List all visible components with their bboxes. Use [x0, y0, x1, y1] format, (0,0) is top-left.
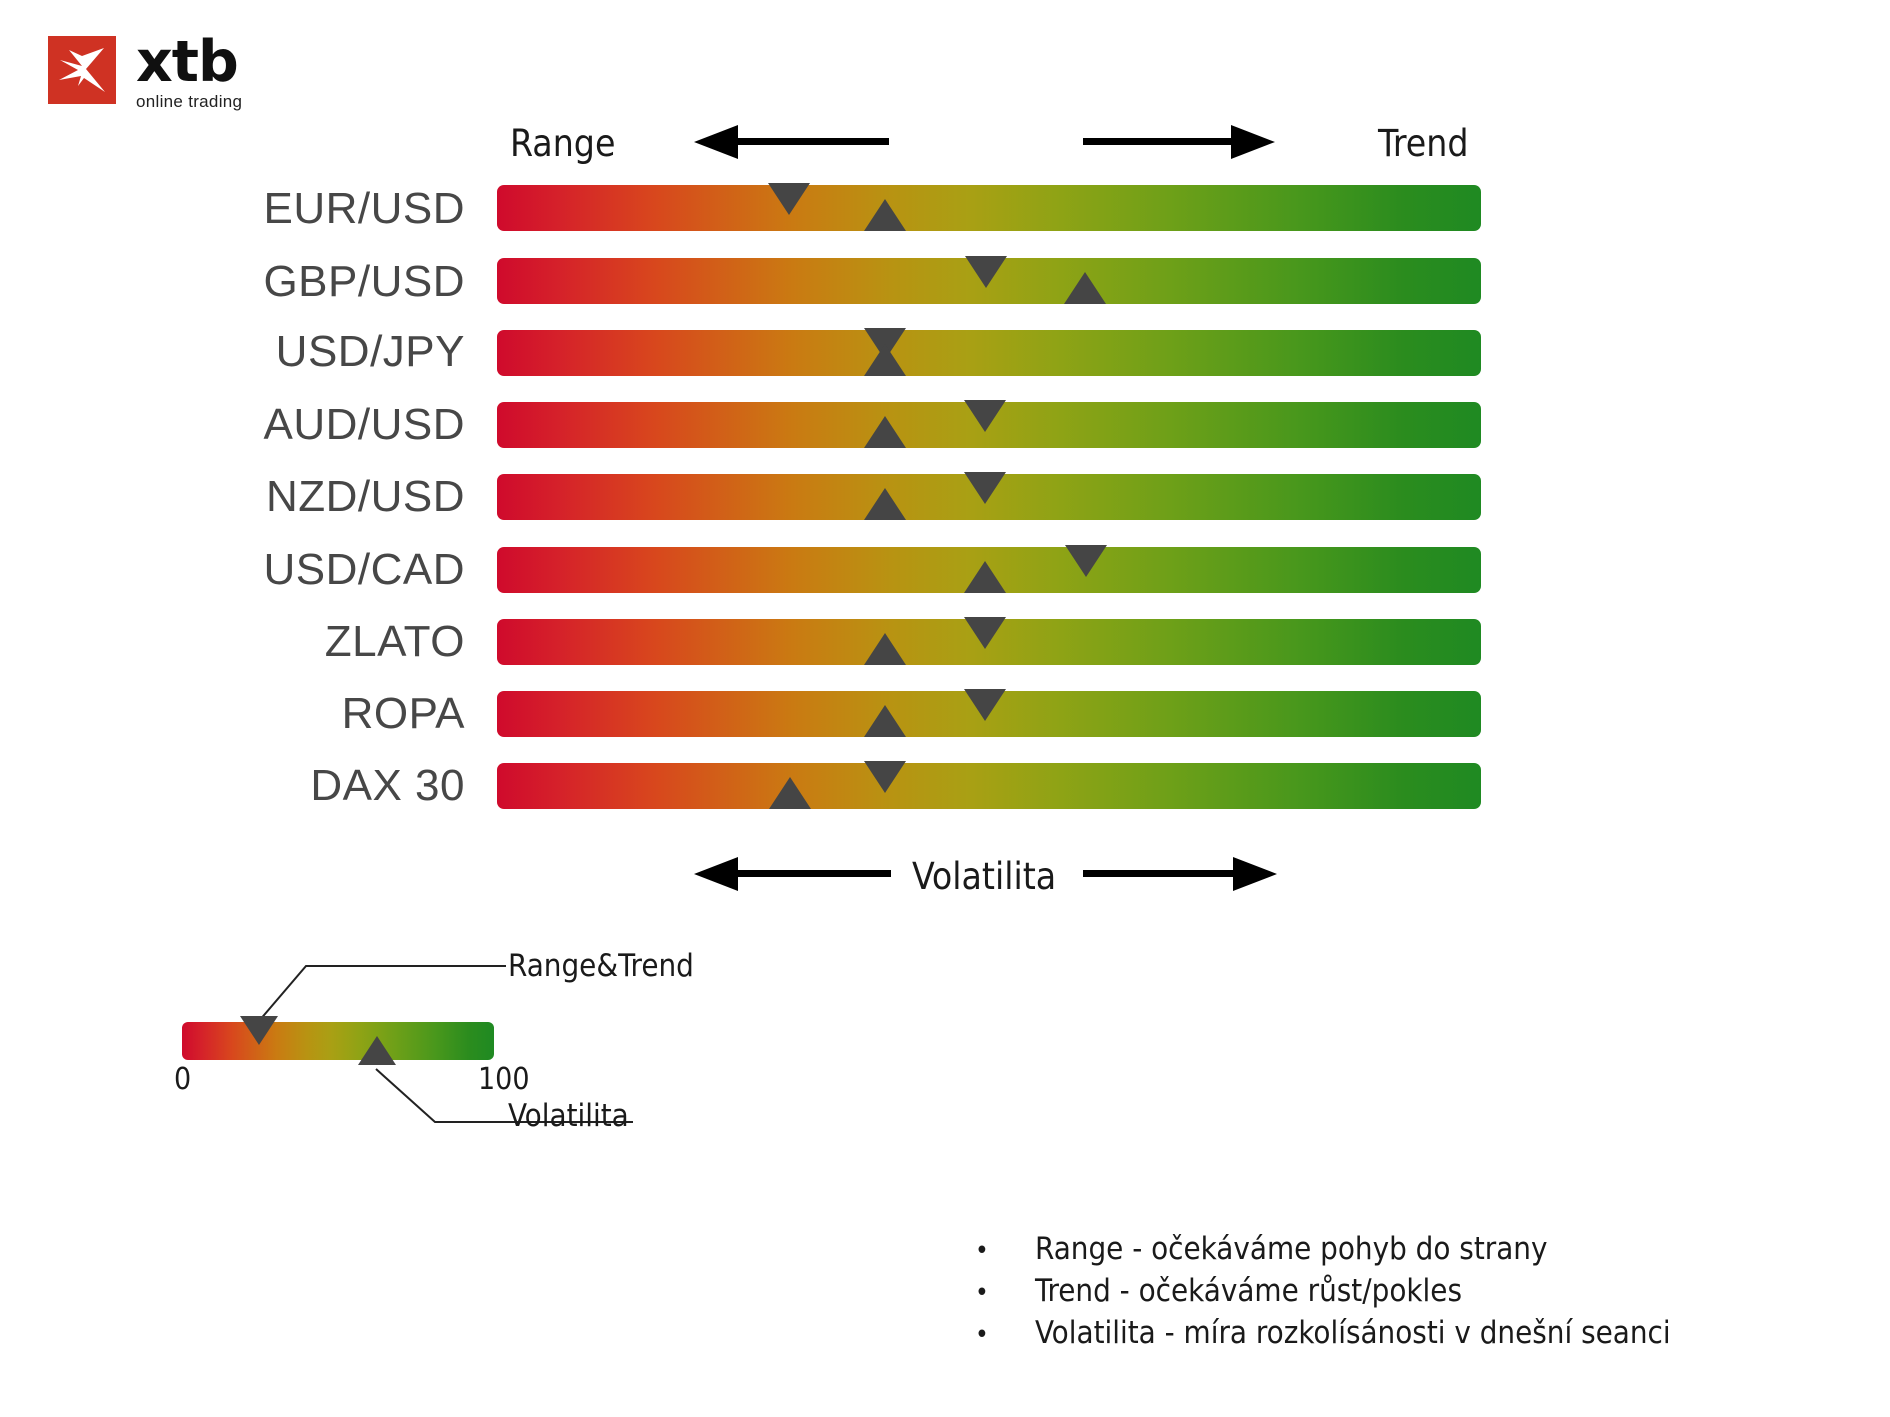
legend-gradient-bar [182, 1022, 494, 1060]
arrow-right-shaft [1083, 138, 1236, 145]
sentiment-bar-eurusd [497, 185, 1481, 231]
vol-arrow-right-icon [1233, 857, 1277, 891]
marker-range-trend-audusd [964, 400, 1006, 432]
marker-volatilita-usdcad [964, 561, 1006, 593]
marker-range-trend-zlato [964, 617, 1006, 649]
row-label-audusd: AUD/USD [263, 400, 465, 450]
axis-label-trend: Trend [1378, 122, 1468, 165]
marker-range-trend-eurusd [768, 183, 810, 215]
legend-marker-range-trend [240, 1016, 278, 1045]
arrow-right-icon [1231, 125, 1275, 159]
marker-range-trend-usdcad [1065, 545, 1107, 577]
legend-marker-volatilita [358, 1036, 396, 1065]
marker-volatilita-audusd [864, 416, 906, 448]
legend-scale-min: 0 [174, 1062, 191, 1097]
marker-volatilita-zlato [864, 633, 906, 665]
vol-arrow-left-icon [694, 857, 738, 891]
bullet-icon: • [975, 1280, 1035, 1306]
row-label-eurusd: EUR/USD [263, 184, 465, 234]
vol-arrow-left-shaft [736, 870, 891, 877]
row-label-nzdusd: NZD/USD [266, 472, 465, 522]
bullet-icon: • [975, 1322, 1035, 1348]
note-text: Trend - očekáváme růst/pokles [1035, 1273, 1462, 1309]
note-text: Volatilita - míra rozkolísánosti v dnešn… [1035, 1315, 1671, 1351]
marker-volatilita-usdjpy [864, 344, 906, 376]
arrow-left-icon [694, 125, 738, 159]
row-label-usdjpy: USD/JPY [276, 327, 465, 377]
arrow-left-shaft [736, 138, 889, 145]
sentiment-bar-dax30 [497, 763, 1481, 809]
callout-label-range-trend: Range&Trend [508, 948, 694, 984]
callout-label-volatilita: Volatilita [508, 1098, 629, 1134]
row-label-gbpusd: GBP/USD [263, 257, 465, 307]
row-label-usdcad: USD/CAD [263, 545, 465, 595]
marker-range-trend-dax30 [864, 761, 906, 793]
marker-range-trend-ropa [964, 689, 1006, 721]
marker-range-trend-nzdusd [964, 472, 1006, 504]
list-item: • Volatilita - míra rozkolísánosti v dne… [975, 1315, 1671, 1357]
sentiment-chart: Range Trend EUR/USD GBP/USD USD/JPY AUD/… [0, 0, 1890, 1417]
marker-range-trend-gbpusd [965, 256, 1007, 288]
marker-volatilita-nzdusd [864, 488, 906, 520]
note-text: Range - očekáváme pohyb do strany [1035, 1231, 1547, 1267]
axis-label-range: Range [510, 122, 615, 165]
notes-list: • Range - očekáváme pohyb do strany • Tr… [975, 1231, 1671, 1357]
callout-line-range-trend [258, 960, 508, 1022]
marker-volatilita-ropa [864, 705, 906, 737]
marker-volatilita-gbpusd [1064, 272, 1106, 304]
list-item: • Range - očekáváme pohyb do strany [975, 1231, 1671, 1273]
row-label-zlato: ZLATO [325, 617, 465, 667]
list-item: • Trend - očekáváme růst/pokles [975, 1273, 1671, 1315]
marker-volatilita-eurusd [864, 199, 906, 231]
row-label-ropa: ROPA [342, 689, 465, 739]
sentiment-bar-usdjpy [497, 330, 1481, 376]
axis-label-volatilita: Volatilita [912, 855, 1056, 898]
marker-volatilita-dax30 [769, 777, 811, 809]
row-label-dax30: DAX 30 [310, 761, 465, 811]
bullet-icon: • [975, 1238, 1035, 1264]
vol-arrow-right-shaft [1083, 870, 1238, 877]
